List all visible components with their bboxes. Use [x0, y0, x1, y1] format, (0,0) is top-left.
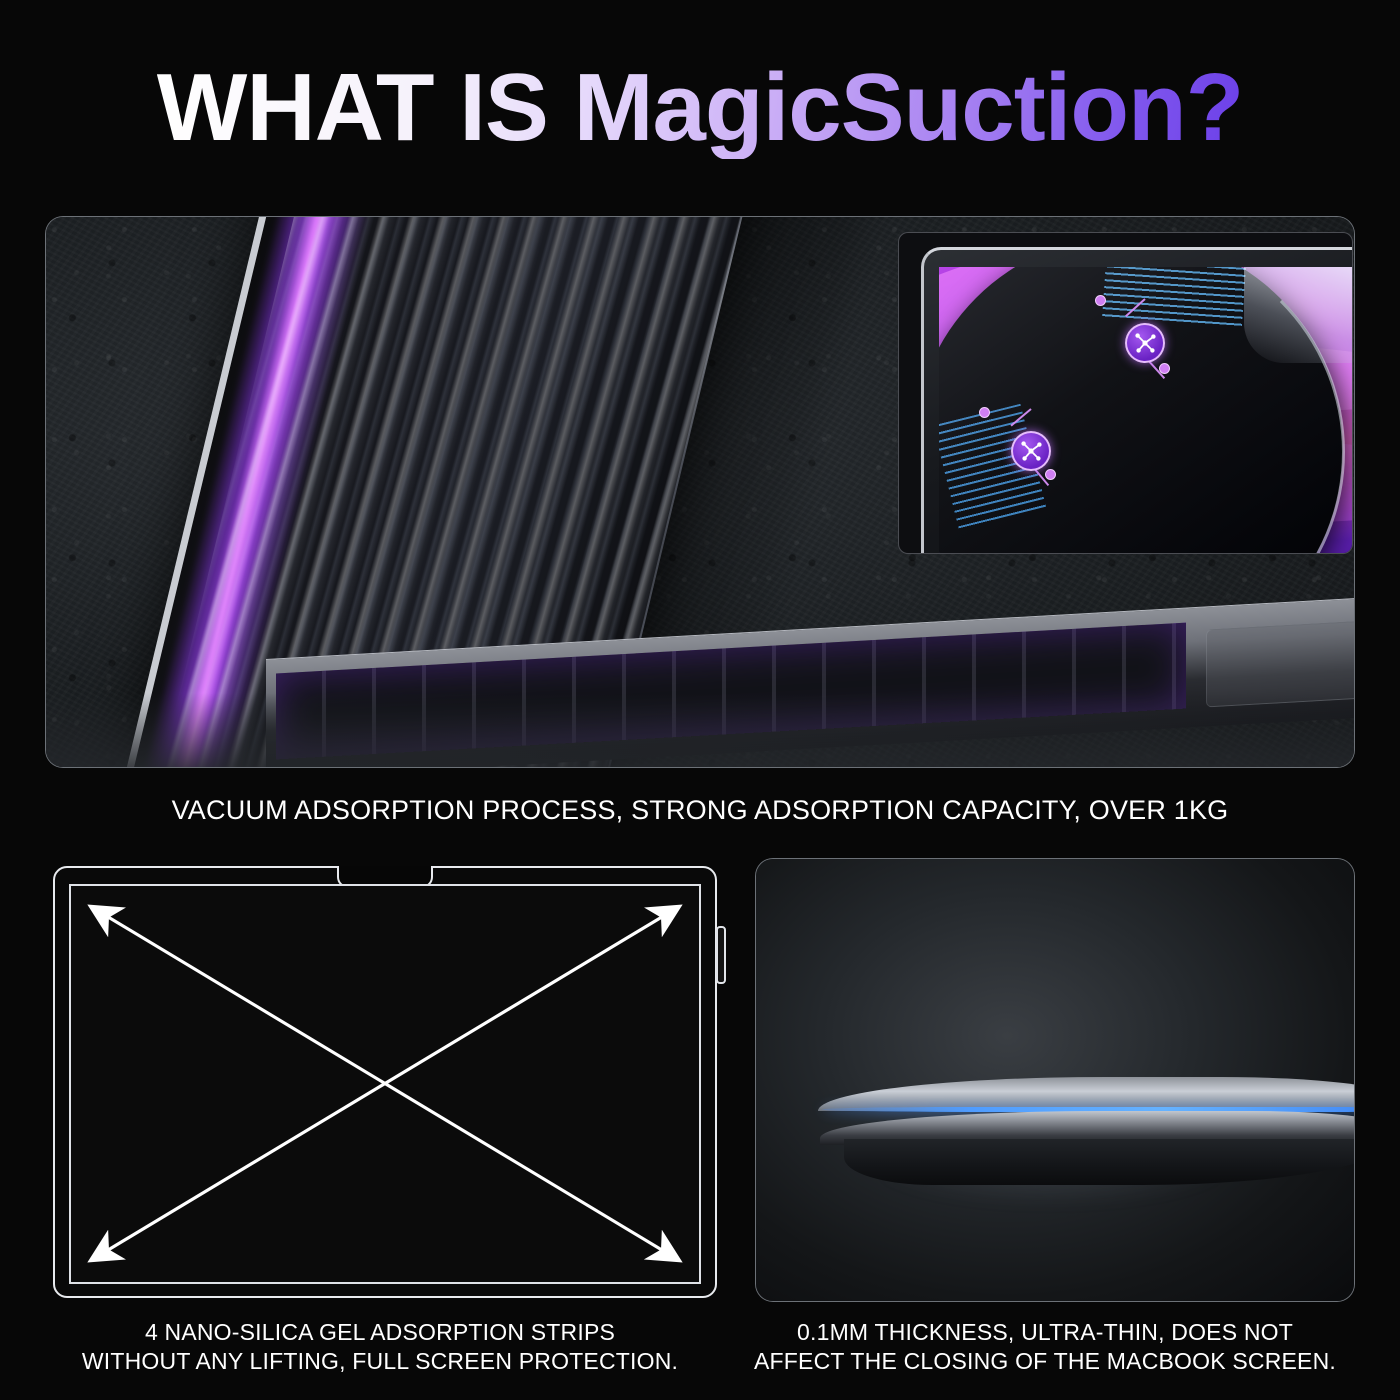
- diagonal-coverage-arrows: [71, 886, 699, 1281]
- closed-macbook-edge: [818, 1077, 1355, 1155]
- page-title: WHAT IS MagicSuction?: [0, 58, 1400, 159]
- laptop-lid-edge: [818, 1077, 1355, 1111]
- bottom-right-caption-line2: AFFECT THE CLOSING OF THE MACBOOK SCREEN…: [754, 1348, 1336, 1374]
- inset-closeup-panel: [898, 232, 1353, 554]
- bottom-left-caption: 4 NANO-SILICA GEL ADSORPTION STRIPSWITHO…: [40, 1318, 720, 1377]
- infographic-page: WHAT IS MagicSuction?: [0, 0, 1400, 1400]
- molecule-icon: [1011, 431, 1051, 471]
- suction-point-badge-left: [1011, 431, 1051, 471]
- screen-outline: [53, 866, 717, 1298]
- inset-screen-wallpaper: [939, 267, 1353, 554]
- bottom-left-caption-line1: 4 NANO-SILICA GEL ADSORPTION STRIPS: [145, 1319, 615, 1345]
- blue-light-streaks-top: [1102, 267, 1246, 328]
- hero-image-panel: [45, 216, 1355, 768]
- badge-connector-dot: [1095, 295, 1106, 306]
- suction-point-badge-top: [1125, 323, 1165, 363]
- hero-floor-gradient: [46, 693, 1354, 767]
- bottom-right-caption-line1: 0.1MM THICKNESS, ULTRA-THIN, DOES NOT: [797, 1319, 1293, 1345]
- badge-connector-dot: [979, 407, 990, 418]
- page-title-text: WHAT IS MagicSuction?: [157, 58, 1244, 159]
- film-lifted-corner: [1244, 267, 1353, 363]
- bottom-left-caption-line2: WITHOUT ANY LIFTING, FULL SCREEN PROTECT…: [82, 1348, 678, 1374]
- thickness-photo-panel: [755, 858, 1355, 1302]
- bottom-right-caption: 0.1MM THICKNESS, ULTRA-THIN, DOES NOTAFF…: [720, 1318, 1370, 1377]
- screen-inner-border: [69, 884, 701, 1284]
- hero-caption: VACUUM ADSORPTION PROCESS, STRONG ADSORP…: [0, 793, 1400, 828]
- full-coverage-diagram-panel: [45, 858, 725, 1302]
- film-pull-tab: [716, 926, 726, 984]
- molecule-icon: [1125, 323, 1165, 363]
